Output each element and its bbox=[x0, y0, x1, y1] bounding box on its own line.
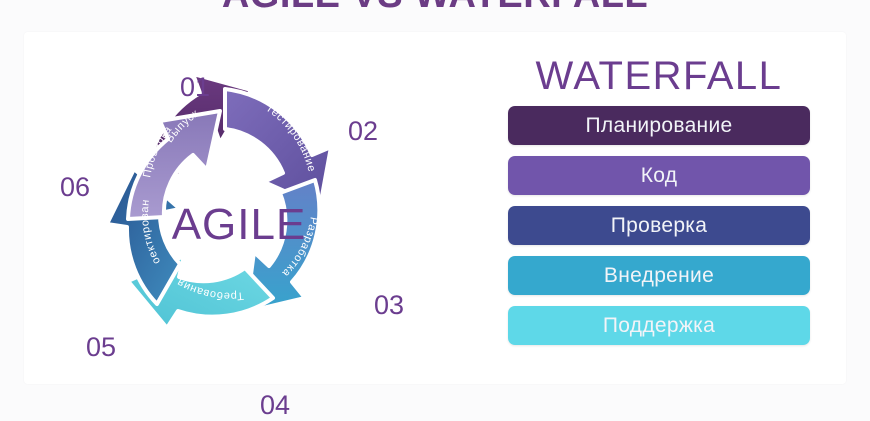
agile-cycle-panel: Выпуск Тестирование Разработка Требовани… bbox=[24, 32, 454, 384]
waterfall-stage-1[interactable]: Планирование bbox=[508, 106, 810, 145]
agile-step-number-06: 06 bbox=[60, 172, 90, 203]
agile-step-number-03: 03 bbox=[374, 290, 404, 321]
waterfall-stage-5[interactable]: Поддержка bbox=[508, 306, 810, 345]
waterfall-stage-4[interactable]: Внедрение bbox=[508, 256, 810, 295]
agile-step-number-02: 02 bbox=[348, 116, 378, 147]
waterfall-stage-label: Код bbox=[641, 164, 678, 188]
waterfall-stage-label: Внедрение bbox=[604, 264, 714, 288]
page-title: AGILE VS WATERFALL bbox=[0, 0, 870, 17]
infographic-root: AGILE VS WATERFALL bbox=[0, 0, 870, 400]
waterfall-stage-3[interactable]: Проверка bbox=[508, 206, 810, 245]
agile-step-number-05: 05 bbox=[86, 332, 116, 363]
agile-step-number-01: 01 bbox=[180, 72, 210, 103]
waterfall-title: WATERFALL bbox=[500, 54, 818, 99]
waterfall-stage-label: Планирование bbox=[586, 114, 733, 138]
waterfall-stage-2[interactable]: Код bbox=[508, 156, 810, 195]
waterfall-stage-list: ПланированиеКодПроверкаВнедрениеПоддержк… bbox=[508, 106, 810, 356]
waterfall-stage-label: Поддержка bbox=[603, 314, 715, 338]
waterfall-stage-label: Проверка bbox=[611, 214, 707, 238]
waterfall-panel: WATERFALL ПланированиеКодПроверкаВнедрен… bbox=[500, 32, 846, 384]
agile-step-number-04: 04 bbox=[260, 390, 290, 421]
agile-center-label: AGILE bbox=[24, 200, 454, 250]
